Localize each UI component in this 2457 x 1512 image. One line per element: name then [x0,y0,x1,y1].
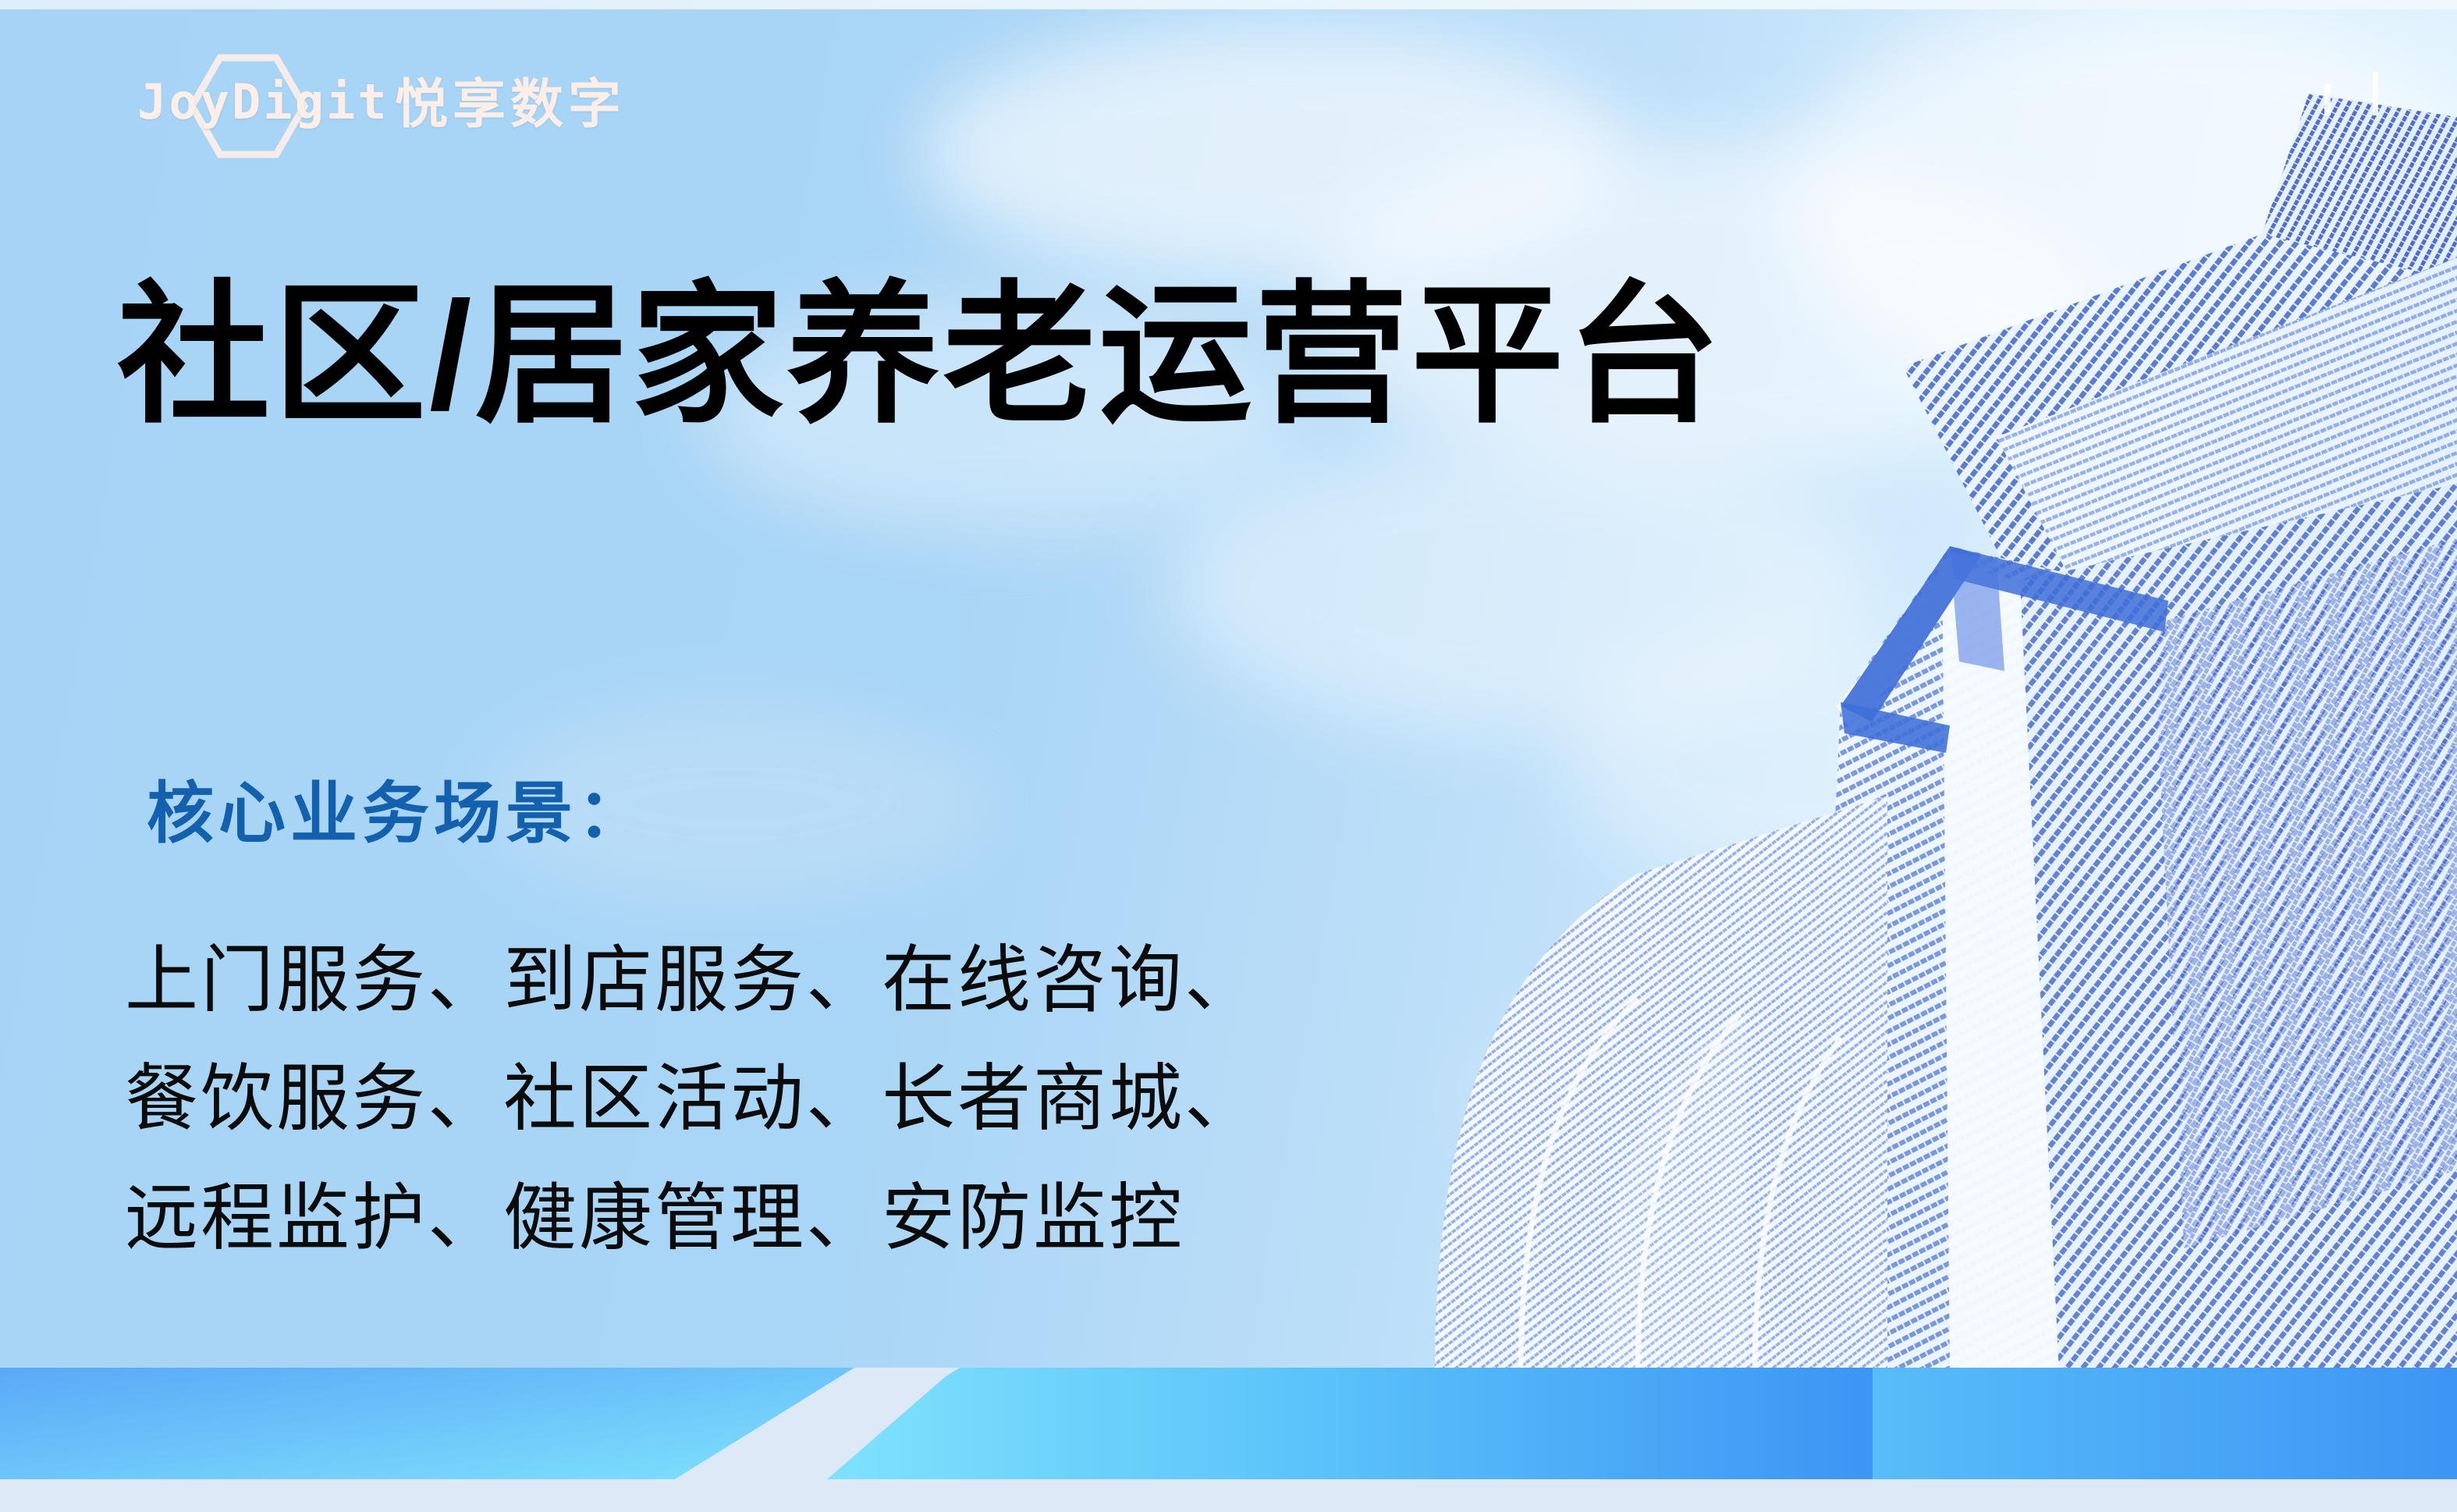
top-light-strip [0,0,2457,9]
logo-chinese-text: 悦享数字 [395,78,626,131]
skyscraper-photo [1404,0,2457,1373]
section-label: 核心业务场景： [147,780,649,847]
page-title: 社区/居家养老运营平台 [117,265,1723,445]
scenario-line: 上门服务、到店服务、在线咨询、 [125,921,1260,1039]
bottom-decorative-band [0,1368,2457,1512]
scenario-line: 餐饮服务、社区活动、长者商城、 [125,1039,1260,1158]
brand-logo: JoyDigit 悦享数字 [137,61,626,148]
logo-latin-text: JoyDigit [137,78,395,126]
scenario-line: 远程监护、健康管理、安防监控 [125,1159,1260,1277]
logo-mark: JoyDigit [137,61,395,148]
slide-canvas: JoyDigit 悦享数字 社区/居家养老运营平台 核心业务场景： 上门服务、到… [0,0,2457,1512]
scenario-list: 上门服务、到店服务、在线咨询、 餐饮服务、社区活动、长者商城、 远程监护、健康管… [125,921,1260,1277]
